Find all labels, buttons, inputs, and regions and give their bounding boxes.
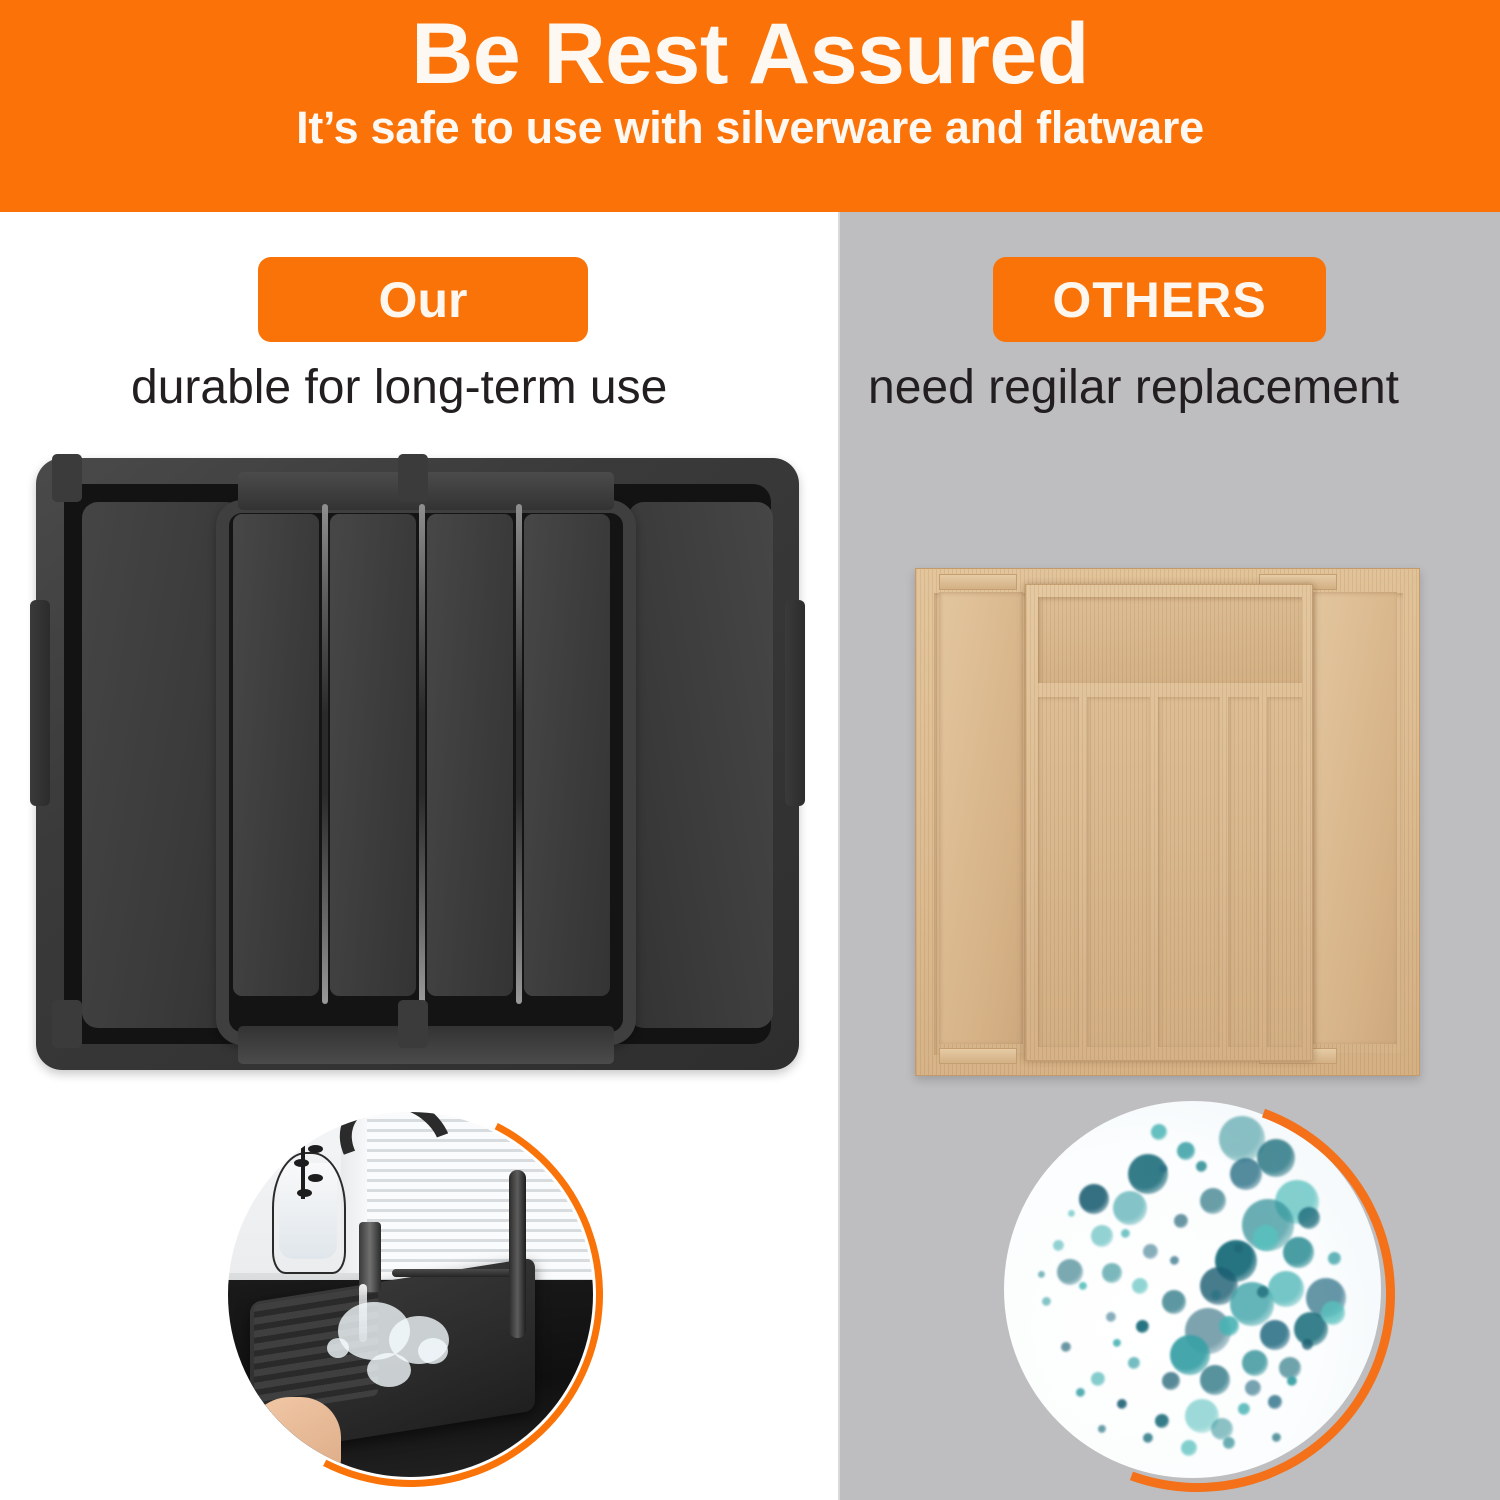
page-title: Be Rest Assured: [0, 0, 1500, 101]
photo-circle-washing: [218, 1102, 603, 1487]
wood-rail-top-left: [939, 574, 1017, 590]
black-slot-2: [330, 514, 416, 996]
photo-circle-mold: [1000, 1097, 1395, 1492]
wood-sliding-insert: [1025, 584, 1313, 1061]
page-subtitle: It’s safe to use with silverware and fla…: [0, 101, 1500, 153]
wood-right-compartment: [1313, 592, 1397, 1044]
panel-divider: [838, 212, 840, 1500]
wood-top-compartment: [1038, 597, 1302, 683]
product-image-black-silicone-organizer: [30, 452, 805, 1077]
black-divider-2: [419, 504, 425, 1004]
product-comparison-infographic: Be Rest Assured It’s safe to use with si…: [0, 0, 1500, 1500]
wood-slot-4: [1228, 697, 1259, 1047]
product-image-bamboo-organizer: [915, 562, 1420, 1082]
wood-left-compartment: [939, 592, 1023, 1044]
black-divider-3: [516, 504, 522, 1004]
wood-slot-1: [1038, 697, 1079, 1047]
wood-slot-5: [1267, 697, 1302, 1047]
caption-our: durable for long-term use: [131, 360, 667, 415]
wood-rail-bottom-left: [939, 1048, 1017, 1064]
black-slot-4: [524, 514, 610, 996]
wood-slot-2: [1087, 697, 1150, 1047]
black-divider-1: [322, 504, 328, 1004]
black-slot-3: [427, 514, 513, 996]
black-nub-bottom-left: [52, 1000, 82, 1048]
black-slot-1: [233, 514, 319, 996]
black-nub-top-right: [398, 454, 428, 502]
black-right-compartment: [628, 502, 773, 1028]
wood-slot-3: [1158, 697, 1220, 1047]
header-banner: Be Rest Assured It’s safe to use with si…: [0, 0, 1500, 212]
orange-ring-accent: [935, 1032, 1460, 1500]
badge-others: OTHERS: [993, 257, 1326, 342]
black-tray-left-tab: [30, 600, 50, 806]
caption-others: need regilar replacement: [868, 360, 1399, 415]
black-nub-bottom-right: [398, 1000, 428, 1048]
black-tray-right-tab: [785, 600, 805, 806]
black-nub-top-left: [52, 454, 82, 502]
badge-our: Our: [258, 257, 588, 342]
